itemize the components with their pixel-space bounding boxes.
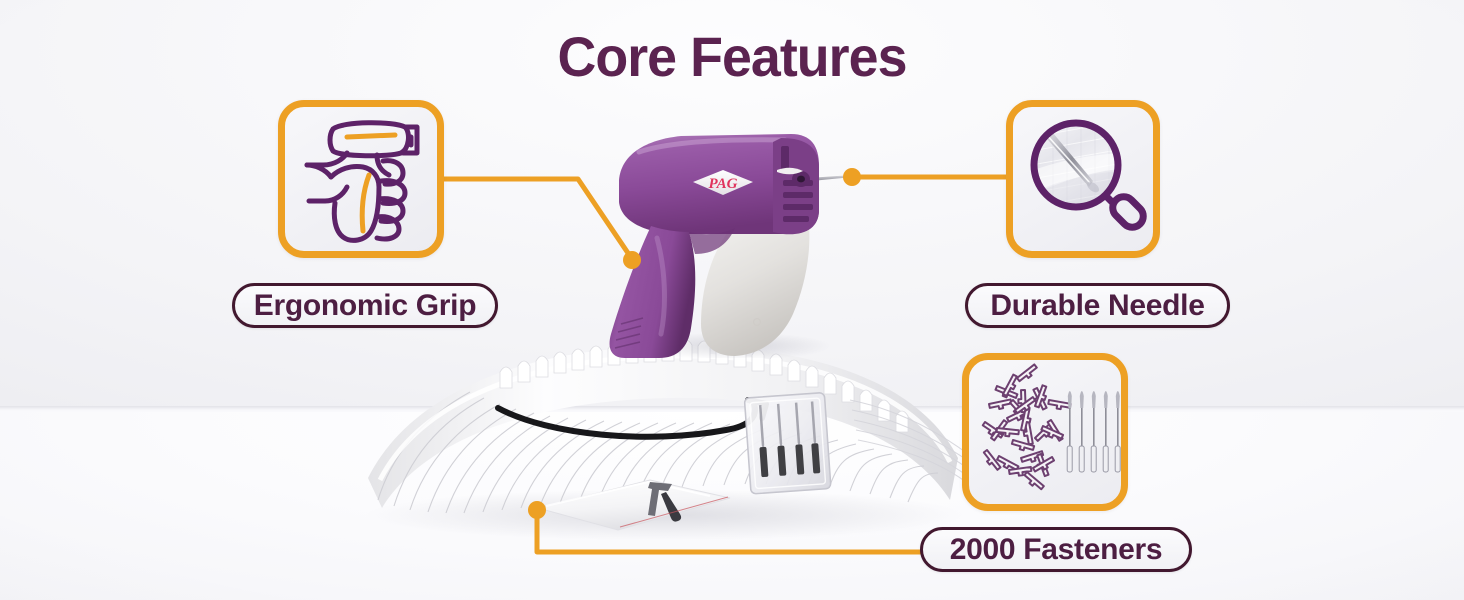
page-title: Core Features: [29, 24, 1434, 89]
hand-gripping-tagging-gun-icon: [285, 107, 437, 251]
infographic-stage: PAG Core Features: [0, 0, 1464, 600]
connector-lines: [0, 0, 1464, 600]
connector-dot-needle: [843, 168, 861, 186]
feature-label-ergonomic-grip[interactable]: Ergonomic Grip: [232, 283, 498, 328]
feature-card-durable-needle[interactable]: [1006, 100, 1160, 258]
feature-card-2000-fasteners[interactable]: [962, 353, 1128, 511]
magnifying-glass-needle-fabric-icon: [1013, 107, 1153, 251]
connector-dot-fasteners: [528, 501, 546, 519]
connector-dot-grip: [623, 251, 641, 269]
connector-2000-fasteners: [537, 512, 920, 552]
feature-label-2000-fasteners[interactable]: 2000 Fasteners: [920, 527, 1192, 572]
feature-label-durable-needle[interactable]: Durable Needle: [965, 283, 1230, 328]
fastener-pile-and-needles-icon: [969, 360, 1121, 504]
feature-card-ergonomic-grip[interactable]: [278, 100, 444, 258]
connector-ergonomic-grip: [444, 179, 632, 259]
